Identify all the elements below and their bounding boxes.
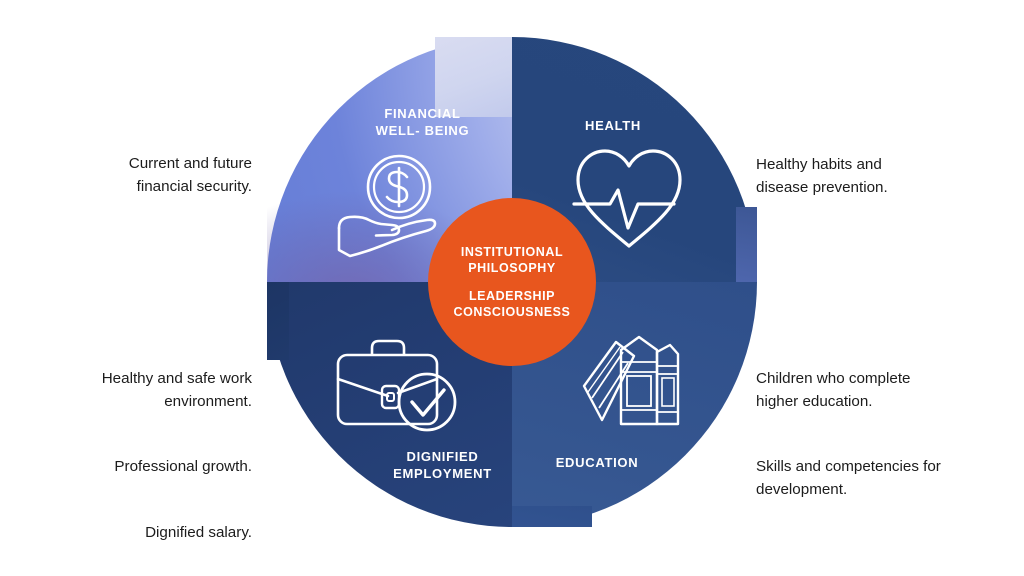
quadrant-financial-flat-top	[435, 37, 512, 117]
note-health: Healthy habits and disease prevention.	[756, 132, 976, 221]
note-financial-text: Current and future financial security.	[62, 153, 252, 198]
heart-heartbeat-icon	[570, 142, 688, 256]
briefcase-check-icon	[326, 334, 462, 436]
note-employment-text-2: Professional growth.	[55, 456, 252, 478]
note-education: Children who complete higher education. …	[756, 346, 981, 523]
note-health-text: Healthy habits and disease prevention.	[756, 154, 976, 199]
note-employment-text-3: Dignified salary.	[55, 522, 252, 544]
quadrant-title-health: HEALTH	[538, 118, 688, 135]
stack-of-books-icon	[566, 328, 694, 440]
quadrant-title-financial-well-being: FINANCIAL WELL- BEING	[345, 106, 500, 139]
hub-line-leadership-consciousness: LEADERSHIP CONSCIOUSNESS	[454, 288, 571, 321]
note-financial-well-being: Current and future financial security.	[62, 131, 252, 220]
quadrant-title-education: EDUCATION	[523, 455, 671, 472]
institutional-philosophy-hub[interactable]: INSTITUTIONAL PHILOSOPHY LEADERSHIP CONS…	[428, 198, 596, 366]
quadrant-education-flat-bottom	[512, 506, 592, 527]
note-dignified-employment: Healthy and safe work environment. Profe…	[55, 346, 252, 567]
note-employment-text-1: Healthy and safe work environment.	[55, 368, 252, 413]
note-education-text-2: Skills and competencies for development.	[756, 456, 981, 501]
hub-line-institutional-philosophy: INSTITUTIONAL PHILOSOPHY	[461, 244, 563, 277]
diagram-canvas: FINANCIAL WELL- BEING HEALTH DIGNIFIED E…	[0, 0, 1024, 576]
quadrant-health-flat-right	[736, 207, 757, 282]
note-education-text-1: Children who complete higher education.	[756, 368, 981, 413]
quadrant-employment-flat-left	[267, 282, 289, 360]
quadrant-title-dignified-employment: DIGNIFIED EMPLOYMENT	[365, 449, 520, 482]
